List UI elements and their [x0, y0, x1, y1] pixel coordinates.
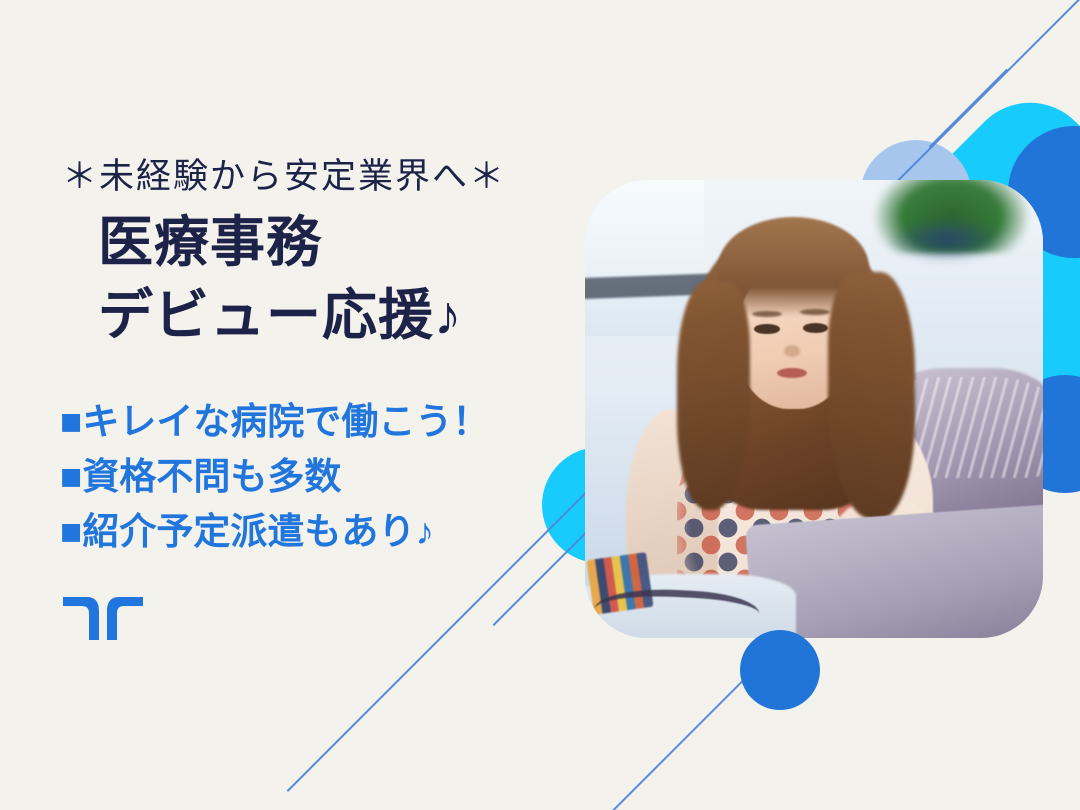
diagonal-hairline-blob [929, 69, 1008, 148]
woman-working-at-laptop-photo [585, 180, 1043, 638]
promo-banner: ＊未経験から安定業界へ＊ 医療事務 デビュー応援♪ ■キレイな病院で働こう！ ■… [0, 0, 1080, 810]
list-item: ■紹介予定派遣もあり♪ [60, 505, 489, 560]
eyebrow-text: ＊未経験から安定業界へ＊ [62, 148, 506, 199]
list-item: ■資格不問も多数 [60, 450, 489, 505]
page-title-line-1: 医療事務 [98, 215, 322, 270]
page-title-line-2: デビュー応援♪ [98, 288, 463, 343]
feature-list: ■キレイな病院で働こう！ ■資格不問も多数 ■紹介予定派遣もあり♪ [60, 395, 489, 559]
copy-block: ＊未経験から安定業界へ＊ 医療事務 デビュー応援♪ ■キレイな病院で働こう！ ■… [0, 0, 585, 810]
list-item: ■キレイな病院で働こう！ [60, 395, 489, 450]
randstad-logo [63, 595, 143, 640]
